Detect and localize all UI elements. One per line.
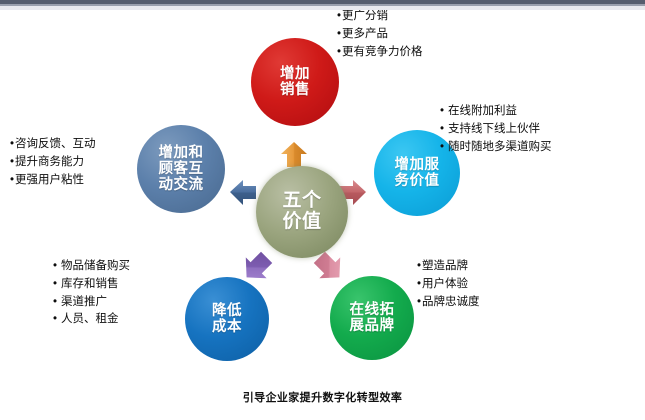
- list-item: •随时随地多渠道购买: [440, 139, 552, 157]
- list-item-label: 提升商务能力: [15, 156, 84, 168]
- bullet-marker-icon: •: [440, 103, 448, 121]
- list-item-label: 用户体验: [422, 278, 468, 290]
- list-item-label: 咨询反馈、互动: [15, 138, 96, 150]
- list-item-label: 更强用户粘性: [15, 174, 84, 186]
- list-item: •支持线下线上伙伴: [440, 121, 552, 139]
- list-item: •塑造品牌: [417, 258, 480, 276]
- list-item-label: 支持线下线上伙伴: [448, 123, 540, 135]
- node-increase-sales[interactable]: 增加 销售: [251, 38, 339, 126]
- bullet-marker-icon: •: [53, 311, 61, 329]
- bullets-customer-interaction: •咨询反馈、互动 •提升商务能力 •更强用户粘性: [10, 136, 96, 189]
- node-increase-service-value-label: 增加服 务价值: [395, 157, 440, 189]
- list-item: •渠道推广: [53, 294, 130, 312]
- node-online-brand-expansion[interactable]: 在线拓 展品牌: [330, 276, 414, 360]
- bullet-marker-icon: •: [440, 139, 448, 157]
- list-item-label: 更有竞争力价格: [342, 46, 423, 58]
- center-node-five-values[interactable]: 五个 价值: [256, 166, 348, 258]
- list-item: •人员、租金: [53, 311, 130, 329]
- list-item: •更广分销: [337, 8, 423, 26]
- node-reduce-cost-label: 降低 成本: [212, 303, 242, 335]
- center-node-label: 五个 价值: [282, 191, 321, 232]
- list-item-label: 物品储备购买: [61, 260, 130, 272]
- list-item: •物品储备购买: [53, 258, 130, 276]
- list-item: •咨询反馈、互动: [10, 136, 96, 154]
- list-item: •更多产品: [337, 26, 423, 44]
- list-item-label: 品牌忠诚度: [422, 296, 480, 308]
- bullet-marker-icon: •: [440, 121, 448, 139]
- bullets-increase-sales: •更广分销 •更多产品 •更有竞争力价格: [337, 8, 423, 61]
- list-item-label: 随时随地多渠道购买: [448, 141, 552, 153]
- window-top-bar-light: [0, 6, 645, 10]
- list-item: •用户体验: [417, 276, 480, 294]
- arrow-left-icon: [228, 177, 258, 207]
- bullet-marker-icon: •: [53, 276, 61, 294]
- node-increase-sales-label: 增加 销售: [280, 66, 310, 98]
- list-item: •在线附加利益: [440, 103, 552, 121]
- list-item: •库存和销售: [53, 276, 130, 294]
- list-item: •品牌忠诚度: [417, 294, 480, 312]
- list-item-label: 人员、租金: [61, 313, 119, 325]
- arrow-down-left-icon: [240, 250, 274, 284]
- list-item: •更强用户粘性: [10, 172, 96, 190]
- node-customer-interaction-label: 增加和 顾客互 动交流: [159, 145, 204, 194]
- list-item-label: 塑造品牌: [422, 260, 468, 272]
- slide-caption: 引导企业家提升数字化转型效率: [0, 389, 645, 405]
- diagram-slide: 五个 价值 增加 销售 增加服 务价值 增加和 顾客互 动交流 降低 成本 在线…: [0, 0, 645, 420]
- node-reduce-cost[interactable]: 降低 成本: [185, 277, 269, 361]
- list-item: •更有竞争力价格: [337, 44, 423, 62]
- list-item-label: 在线附加利益: [448, 105, 517, 117]
- bullets-increase-service-value: •在线附加利益 •支持线下线上伙伴 •随时随地多渠道购买: [440, 103, 552, 156]
- node-customer-interaction[interactable]: 增加和 顾客互 动交流: [137, 125, 225, 213]
- bullet-marker-icon: •: [53, 294, 61, 312]
- list-item-label: 更广分销: [342, 10, 388, 22]
- list-item-label: 库存和销售: [61, 278, 119, 290]
- bullets-online-brand-expansion: •塑造品牌 •用户体验 •品牌忠诚度: [417, 258, 480, 311]
- list-item-label: 更多产品: [342, 28, 388, 40]
- bullet-marker-icon: •: [53, 258, 61, 276]
- list-item-label: 渠道推广: [61, 296, 107, 308]
- bullets-reduce-cost: •物品储备购买 •库存和销售 •渠道推广 •人员、租金: [53, 258, 130, 329]
- node-online-brand-expansion-label: 在线拓 展品牌: [350, 302, 395, 334]
- list-item: •提升商务能力: [10, 154, 96, 172]
